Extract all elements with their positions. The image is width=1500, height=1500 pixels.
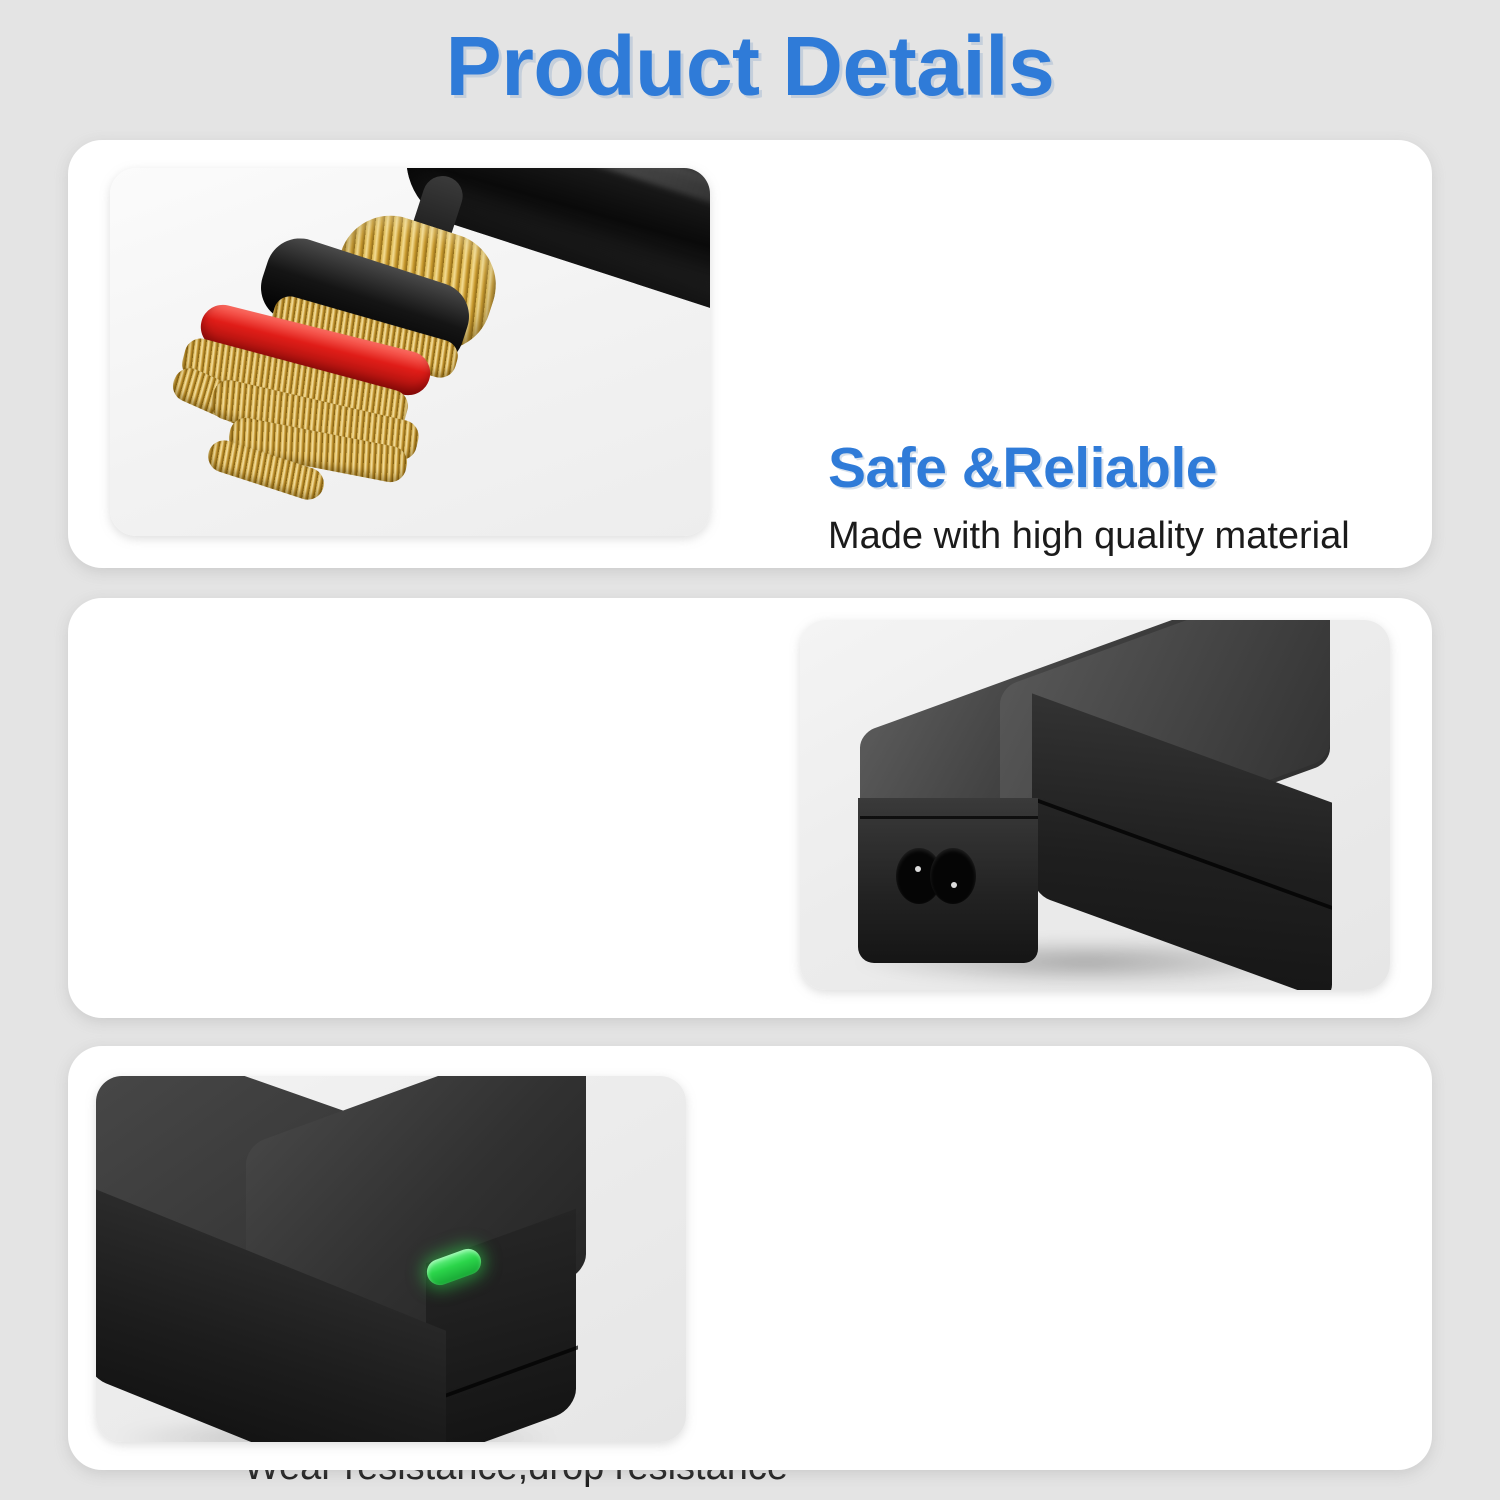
indicator-light-illustration <box>96 1076 686 1442</box>
feature-subtitle-line-2: earthquake resistance <box>148 1492 788 1500</box>
feature-card-work-indicator-light: Work Indicator Light When the charger is… <box>68 1046 1432 1470</box>
socket-lobe-right <box>930 848 976 904</box>
figure-8-socket-icon <box>896 848 980 906</box>
socket-pin <box>915 866 921 872</box>
adapter-green-led-photo <box>96 1076 686 1442</box>
product-details-infographic: Product Details Safe &Reliable Made with… <box>0 0 1500 1500</box>
black-power-adapter-photo <box>800 620 1390 990</box>
feature-text-safe-reliable: Safe &Reliable Made with high quality ma… <box>828 436 1468 562</box>
adapter-front-seam-line <box>860 816 1038 819</box>
power-adapter-illustration <box>800 620 1390 990</box>
socket-pin <box>951 882 957 888</box>
feature-subtitle: Made with high quality material <box>828 512 1468 561</box>
feature-card-abs-pc-shell: ABS PC Flame Retardant Shell Wear resist… <box>68 598 1432 1018</box>
cable-illustration <box>110 168 710 536</box>
feature-title: Safe &Reliable <box>828 436 1468 500</box>
feature-card-safe-reliable: Safe &Reliable Made with high quality ma… <box>68 140 1432 568</box>
cutaway-cable-photo <box>110 168 710 536</box>
page-title: Product Details <box>0 22 1500 110</box>
